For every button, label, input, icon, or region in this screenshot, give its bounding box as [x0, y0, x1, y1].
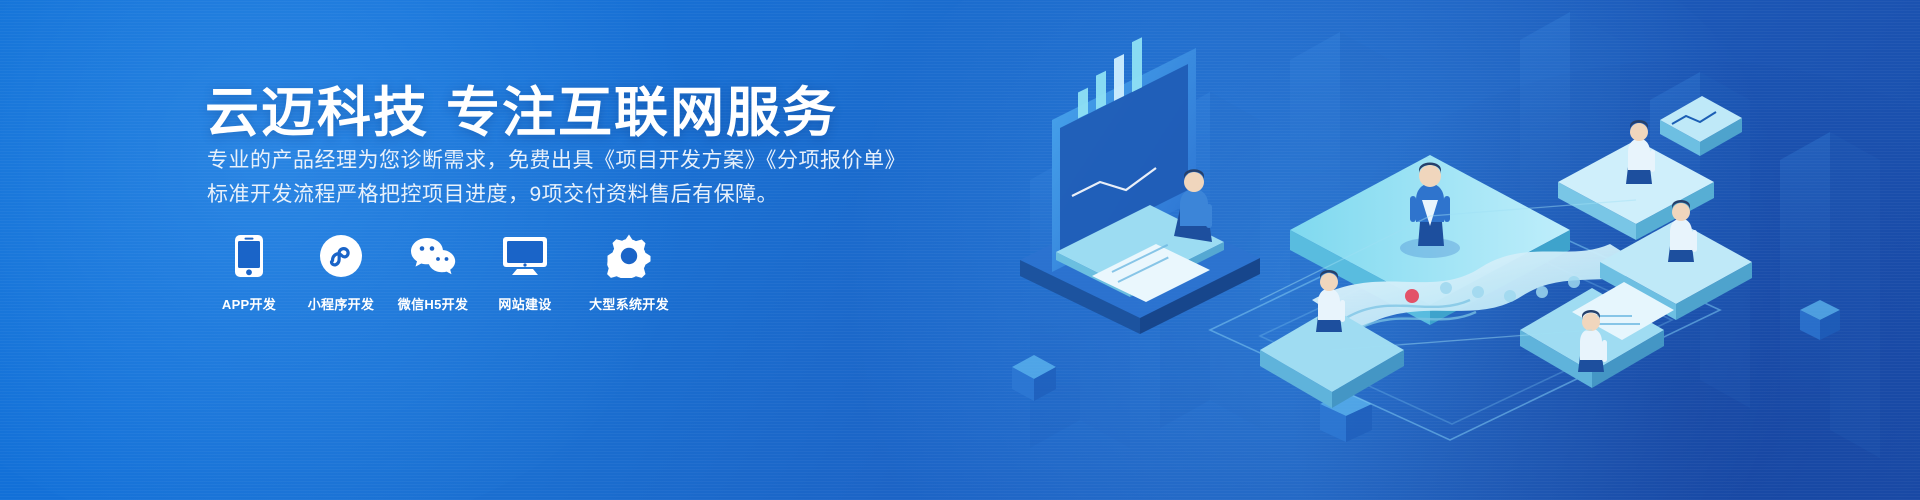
- page-title: 云迈科技 专注互联网服务: [205, 68, 838, 147]
- service-label: 网站建设: [498, 294, 551, 313]
- service-label: APP开发: [222, 294, 276, 313]
- wechat-icon: [409, 232, 457, 280]
- service-label: 大型系统开发: [589, 294, 669, 313]
- isometric-tech-scene: [960, 0, 1920, 500]
- mobile-phone-icon: [234, 232, 264, 280]
- mini-program-icon: [319, 232, 363, 280]
- service-item-website[interactable]: 网站建设: [489, 232, 561, 313]
- service-label: 小程序开发: [308, 294, 375, 313]
- service-item-app[interactable]: APP开发: [213, 232, 285, 313]
- service-label: 微信H5开发: [398, 294, 468, 313]
- service-item-large-system[interactable]: 大型系统开发: [581, 232, 677, 313]
- hero-banner: 云迈科技 专注互联网服务 专业的产品经理为您诊断需求，免费出具《项目开发方案》《…: [0, 0, 1920, 500]
- service-item-mini-program[interactable]: 小程序开发: [305, 232, 377, 313]
- subtitle-line-2: 标准开发流程严格把控项目进度，9项交付资料售后有保障。: [207, 178, 906, 212]
- service-item-wechat-h5[interactable]: 微信H5开发: [397, 232, 469, 313]
- monitor-icon: [502, 232, 548, 280]
- banner-subtitle: 专业的产品经理为您诊断需求，免费出具《项目开发方案》《分项报价单》 标准开发流程…: [207, 144, 906, 212]
- subtitle-line-1: 专业的产品经理为您诊断需求，免费出具《项目开发方案》《分项报价单》: [207, 144, 906, 178]
- service-list: APP开发 小程序开发: [213, 232, 677, 313]
- banner-content: 云迈科技 专注互联网服务 专业的产品经理为您诊断需求，免费出具《项目开发方案》《…: [205, 0, 965, 500]
- gear-icon: [607, 232, 651, 280]
